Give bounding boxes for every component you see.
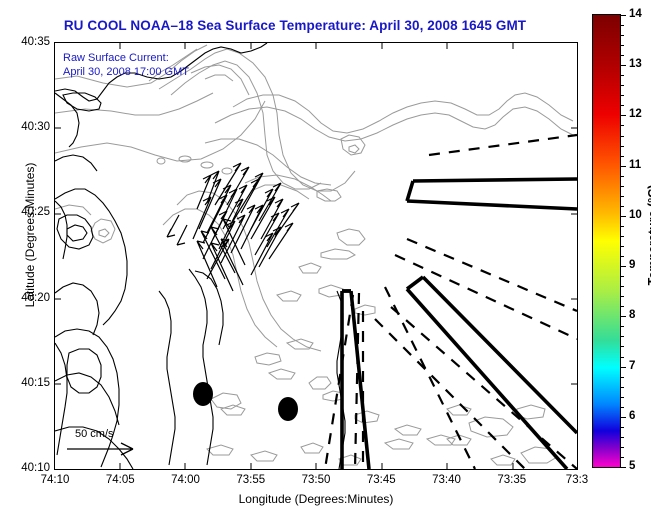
colorbar-minor-tick [621, 346, 624, 347]
dashed-radial-lines [325, 135, 577, 469]
colorbar-minor-tick [621, 105, 624, 106]
x-tick-label: 73:3 [547, 474, 607, 486]
colorbar-tick-label: 9 [629, 259, 635, 271]
map-canvas [55, 43, 577, 469]
x-tick-label: 73:55 [221, 474, 281, 486]
colorbar-minor-tick [621, 125, 624, 126]
station-markers [193, 382, 298, 421]
y-tick-label: 40:35 [4, 36, 50, 48]
annotation-line-2: April 30, 2008 17:00 GMT [63, 65, 189, 79]
colorbar-tick-mark [621, 266, 626, 267]
colorbar-minor-tick [621, 286, 624, 287]
x-tick-label: 73:35 [482, 474, 542, 486]
colorbar-tick-mark [621, 65, 626, 66]
map-plot-area[interactable]: Raw Surface Current: April 30, 2008 17:0… [54, 42, 578, 470]
colorbar-minor-tick [621, 256, 624, 257]
colorbar-minor-tick [621, 296, 624, 297]
colorbar-minor-tick [621, 226, 624, 227]
x-tick-label: 74:05 [90, 474, 150, 486]
colorbar-minor-tick [621, 437, 624, 438]
y-tick-label: 40:15 [4, 377, 50, 389]
x-tick-label: 73:40 [417, 474, 477, 486]
y-tick-label: 40:10 [4, 462, 50, 474]
colorbar-minor-tick [621, 447, 624, 448]
colorbar-minor-tick [621, 407, 624, 408]
colorbar-tick-label: 14 [629, 8, 642, 20]
colorbar-minor-tick [621, 136, 624, 137]
scalebar: 50 cm/s [63, 428, 183, 468]
annotation-line-1: Raw Surface Current: [63, 51, 169, 65]
colorbar-minor-tick [621, 35, 624, 36]
colorbar-minor-tick [621, 306, 624, 307]
colorbar-ticks: 141312111098765 [592, 14, 632, 468]
colorbar-minor-tick [621, 427, 624, 428]
colorbar-tick-label: 8 [629, 309, 635, 321]
colorbar-tick-mark [621, 115, 626, 116]
colorbar-minor-tick [621, 156, 624, 157]
colorbar-minor-tick [621, 55, 624, 56]
colorbar-tick-label: 7 [629, 360, 635, 372]
colorbar-minor-tick [621, 45, 624, 46]
x-axis-title: Longitude (Degrees:Minutes) [54, 492, 578, 506]
colorbar-tick-label: 10 [629, 209, 642, 221]
page-title: RU COOL NOAA–18 Sea Surface Temperature:… [0, 18, 590, 33]
station-marker [193, 382, 213, 406]
colorbar-minor-tick [621, 95, 624, 96]
scalebar-label: 50 cm/s [75, 428, 114, 440]
colorbar-tick-mark [621, 367, 626, 368]
axis-inner-ticks [55, 43, 577, 469]
colorbar-minor-tick [621, 276, 624, 277]
colorbar-minor-tick [621, 75, 624, 76]
x-tick-label: 74:00 [156, 474, 216, 486]
colorbar-minor-tick [621, 146, 624, 147]
colorbar-tick-mark [621, 166, 626, 167]
x-tick-label: 74:10 [25, 474, 85, 486]
colorbar-tick-mark [621, 316, 626, 317]
colorbar-minor-tick [621, 387, 624, 388]
x-tick-label: 73:45 [351, 474, 411, 486]
colorbar-tick-label: 12 [629, 108, 642, 120]
colorbar-tick-mark [621, 15, 626, 16]
colorbar-minor-tick [621, 196, 624, 197]
y-axis-title: Latitude (Degrees:Minutes) [23, 110, 37, 360]
station-marker [278, 397, 298, 421]
colorbar-minor-tick [621, 25, 624, 26]
colorbar-minor-tick [621, 326, 624, 327]
colorbar-minor-tick [621, 176, 624, 177]
sst-map-figure: RU COOL NOAA–18 Sea Surface Temperature:… [0, 0, 651, 519]
colorbar-minor-tick [621, 457, 624, 458]
x-tick-label: 73:50 [286, 474, 346, 486]
colorbar-minor-tick [621, 186, 624, 187]
colorbar-minor-tick [621, 377, 624, 378]
colorbar-tick-mark [621, 467, 626, 468]
colorbar-minor-tick [621, 336, 624, 337]
colorbar-minor-tick [621, 397, 624, 398]
colorbar-minor-tick [621, 357, 624, 358]
lane-polygons [115, 173, 577, 469]
x-axis-ticks: 74:1074:0574:0073:5573:5073:4573:4073:35… [54, 474, 578, 494]
sst-contour-lines [55, 45, 573, 465]
colorbar-minor-tick [621, 236, 624, 237]
colorbar-title: Temperature (°C) [646, 135, 651, 335]
colorbar-minor-tick [621, 246, 624, 247]
colorbar-tick-mark [621, 216, 626, 217]
colorbar-minor-tick [621, 85, 624, 86]
colorbar-tick-label: 6 [629, 410, 635, 422]
colorbar-tick-label: 5 [629, 460, 635, 472]
colorbar-tick-label: 11 [629, 159, 641, 171]
surface-current-vectors [167, 163, 299, 291]
colorbar-tick-mark [621, 417, 626, 418]
colorbar-minor-tick [621, 206, 624, 207]
colorbar-tick-label: 13 [629, 58, 642, 70]
